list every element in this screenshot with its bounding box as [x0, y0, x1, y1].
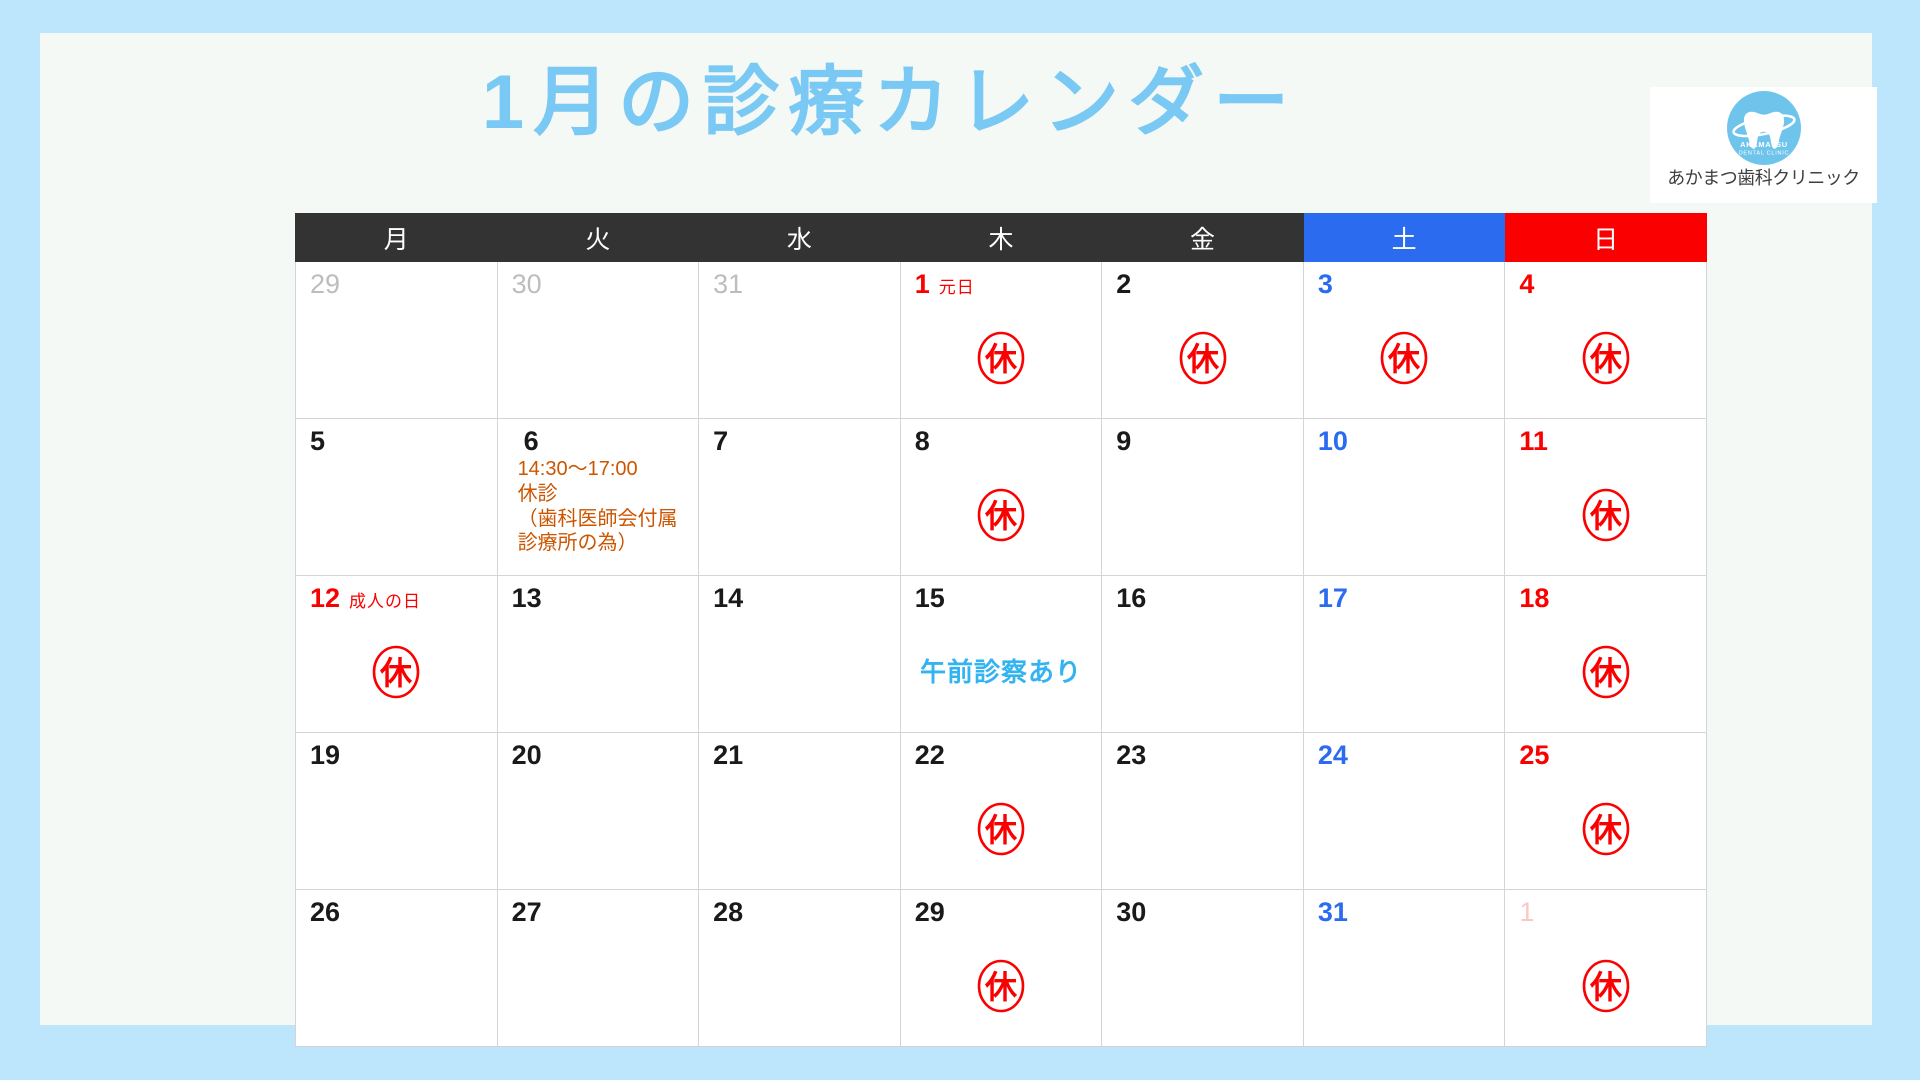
day-cell-16[interactable]: 16 — [1102, 576, 1304, 733]
day-note-orange: 14:30〜17:00 休診 （歯科医師会付属 診療所の為） — [498, 455, 699, 556]
day-number-line: 9 — [1102, 419, 1303, 455]
day-cell-4[interactable]: 4休 — [1505, 262, 1707, 419]
day-number-line: 29 — [901, 890, 1102, 926]
day-cell-10[interactable]: 10 — [1303, 419, 1505, 576]
holiday-label: 成人の日 — [349, 593, 421, 610]
closed-stamp-icon: 休 — [976, 958, 1026, 1014]
day-number: 19 — [310, 742, 340, 769]
day-cell-29[interactable]: 29 — [296, 262, 498, 419]
day-number-line: 21 — [699, 733, 900, 769]
day-number: 11 — [1519, 428, 1548, 455]
day-number-line: 30 — [1102, 890, 1303, 926]
day-cell-22[interactable]: 22休 — [900, 733, 1102, 890]
weekday-header-火: 火 — [497, 214, 699, 262]
day-number: 1 — [1519, 899, 1534, 926]
day-number-line: 3 — [1304, 262, 1505, 298]
day-cell-21[interactable]: 21 — [699, 733, 901, 890]
day-cell-5[interactable]: 5 — [296, 419, 498, 576]
day-cell-23[interactable]: 23 — [1102, 733, 1304, 890]
closed-stamp-icon: 休 — [1379, 330, 1429, 386]
day-number: 4 — [1519, 271, 1534, 298]
day-number-line: 12成人の日 — [296, 576, 497, 612]
svg-text:休: 休 — [1589, 968, 1623, 1006]
day-cell-8[interactable]: 8休 — [900, 419, 1102, 576]
day-number: 22 — [915, 742, 945, 769]
calendar-header: 月火水木金土日 — [296, 214, 1707, 262]
day-number: 12 — [310, 585, 340, 612]
closed-stamp-icon: 休 — [1581, 801, 1631, 857]
day-cell-1[interactable]: 1元日休 — [900, 262, 1102, 419]
day-number-line: 25 — [1505, 733, 1706, 769]
day-cell-30[interactable]: 30 — [497, 262, 699, 419]
closed-stamp-icon: 休 — [1581, 330, 1631, 386]
svg-text:休: 休 — [984, 811, 1018, 849]
day-number-line: 10 — [1304, 419, 1505, 455]
day-cell-25[interactable]: 25休 — [1505, 733, 1707, 890]
day-cell-17[interactable]: 17 — [1303, 576, 1505, 733]
day-number-line: 14 — [699, 576, 900, 612]
day-number: 30 — [512, 271, 542, 298]
closed-stamp-icon: 休 — [1178, 330, 1228, 386]
day-number-line: 19 — [296, 733, 497, 769]
day-cell-18[interactable]: 18休 — [1505, 576, 1707, 733]
svg-text:休: 休 — [1186, 340, 1220, 378]
weekday-header-月: 月 — [296, 214, 498, 262]
day-number-line: 4 — [1505, 262, 1706, 298]
day-number: 24 — [1318, 742, 1348, 769]
calendar-week-row: 5614:30〜17:00 休診 （歯科医師会付属 診療所の為）78休91011… — [296, 419, 1707, 576]
calendar-week-row: 2930311元日休2休3休4休 — [296, 262, 1707, 419]
svg-text:休: 休 — [984, 340, 1018, 378]
day-number: 25 — [1519, 742, 1549, 769]
day-cell-29[interactable]: 29休 — [900, 890, 1102, 1047]
svg-text:休: 休 — [1589, 340, 1623, 378]
day-number: 1 — [915, 271, 930, 298]
day-number: 7 — [713, 428, 728, 455]
day-number-line: 11 — [1505, 419, 1706, 455]
day-number: 10 — [1318, 428, 1348, 455]
closed-stamp-icon: 休 — [371, 644, 421, 700]
day-number: 9 — [1116, 428, 1131, 455]
day-cell-1[interactable]: 1休 — [1505, 890, 1707, 1047]
day-number: 23 — [1116, 742, 1146, 769]
day-number: 17 — [1318, 585, 1348, 612]
day-number-line: 7 — [699, 419, 900, 455]
weekday-header-水: 水 — [699, 214, 901, 262]
day-number-line: 5 — [296, 419, 497, 455]
day-number: 27 — [512, 899, 542, 926]
logo-brand-line-1: AKAMATSU — [1740, 140, 1788, 149]
calendar-week-row: 19202122休232425休 — [296, 733, 1707, 890]
day-number: 31 — [713, 271, 743, 298]
closed-stamp-icon: 休 — [976, 487, 1026, 543]
day-number-line: 26 — [296, 890, 497, 926]
day-cell-26[interactable]: 26 — [296, 890, 498, 1047]
day-number: 5 — [310, 428, 325, 455]
closed-stamp-icon: 休 — [1581, 644, 1631, 700]
weekday-header-日: 日 — [1505, 214, 1707, 262]
holiday-label: 元日 — [939, 279, 975, 296]
svg-text:休: 休 — [1589, 811, 1623, 849]
weekday-header-金: 金 — [1102, 214, 1304, 262]
svg-text:休: 休 — [1589, 497, 1623, 535]
day-number: 18 — [1519, 585, 1549, 612]
day-cell-9[interactable]: 9 — [1102, 419, 1304, 576]
day-number-line: 2 — [1102, 262, 1303, 298]
day-number: 28 — [713, 899, 743, 926]
day-cell-12[interactable]: 12成人の日休 — [296, 576, 498, 733]
day-number-line: 8 — [901, 419, 1102, 455]
calendar-week-row: 12成人の日休131415午前診察あり161718休 — [296, 576, 1707, 733]
day-number-line: 22 — [901, 733, 1102, 769]
day-note-blue: 午前診察あり — [901, 652, 1102, 689]
day-cell-3[interactable]: 3休 — [1303, 262, 1505, 419]
day-number: 31 — [1318, 899, 1348, 926]
day-cell-31[interactable]: 31 — [699, 262, 901, 419]
clinic-logo: AKAMATSU DENTAL CLINIC あかまつ歯科クリニック — [1650, 87, 1877, 203]
day-number: 6 — [524, 428, 539, 455]
day-number-line: 28 — [699, 890, 900, 926]
day-number: 20 — [512, 742, 542, 769]
svg-text:休: 休 — [984, 968, 1018, 1006]
day-number-line: 27 — [498, 890, 699, 926]
day-cell-31[interactable]: 31 — [1303, 890, 1505, 1047]
calendar-week-row: 26272829休30311休 — [296, 890, 1707, 1047]
closed-stamp-icon: 休 — [1581, 487, 1631, 543]
svg-text:休: 休 — [984, 497, 1018, 535]
weekday-header-土: 土 — [1303, 214, 1505, 262]
day-cell-13[interactable]: 13 — [497, 576, 699, 733]
closed-stamp-icon: 休 — [976, 801, 1026, 857]
day-number-line: 6 — [498, 419, 699, 455]
day-cell-30[interactable]: 30 — [1102, 890, 1304, 1047]
tooth-logo-icon: AKAMATSU DENTAL CLINIC — [1727, 91, 1801, 165]
day-number: 15 — [915, 585, 945, 612]
day-cell-19[interactable]: 19 — [296, 733, 498, 890]
day-cell-7[interactable]: 7 — [699, 419, 901, 576]
day-cell-20[interactable]: 20 — [497, 733, 699, 890]
monthly-calendar-table: 月火水木金土日 2930311元日休2休3休4休5614:30〜17:00 休診… — [295, 213, 1707, 1047]
day-number-line: 17 — [1304, 576, 1505, 612]
day-number: 16 — [1116, 585, 1146, 612]
day-number: 29 — [310, 271, 340, 298]
day-cell-24[interactable]: 24 — [1303, 733, 1505, 890]
clinic-name: あかまつ歯科クリニック — [1667, 164, 1860, 190]
day-cell-15[interactable]: 15午前診察あり — [900, 576, 1102, 733]
day-number-line: 23 — [1102, 733, 1303, 769]
day-number-line: 24 — [1304, 733, 1505, 769]
day-number-line: 31 — [1304, 890, 1505, 926]
day-cell-6[interactable]: 614:30〜17:00 休診 （歯科医師会付属 診療所の為） — [497, 419, 699, 576]
day-number-line: 20 — [498, 733, 699, 769]
page-title-row: 1月の診療カレンダー — [40, 59, 1740, 146]
day-number: 30 — [1116, 899, 1146, 926]
day-number-line: 30 — [498, 262, 699, 298]
closed-stamp-icon: 休 — [1581, 958, 1631, 1014]
day-number: 8 — [915, 428, 930, 455]
day-number: 29 — [915, 899, 945, 926]
day-number-line: 13 — [498, 576, 699, 612]
day-cell-14[interactable]: 14 — [699, 576, 901, 733]
day-number-line: 29 — [296, 262, 497, 298]
logo-brand-line-2: DENTAL CLINIC — [1738, 151, 1789, 157]
calendar-card: 1月の診療カレンダー AKAMATSU DENTAL CLINIC あかまつ歯科… — [40, 33, 1872, 1025]
day-cell-28[interactable]: 28 — [699, 890, 901, 1047]
svg-text:休: 休 — [1387, 340, 1421, 378]
day-cell-27[interactable]: 27 — [497, 890, 699, 1047]
day-number-line: 16 — [1102, 576, 1303, 612]
day-number-line: 15 — [901, 576, 1102, 612]
day-number: 26 — [310, 899, 340, 926]
day-cell-2[interactable]: 2休 — [1102, 262, 1304, 419]
day-number: 3 — [1318, 271, 1333, 298]
day-cell-11[interactable]: 11休 — [1505, 419, 1707, 576]
day-number-line: 18 — [1505, 576, 1706, 612]
day-number-line: 1元日 — [901, 262, 1102, 298]
svg-text:休: 休 — [1589, 654, 1623, 692]
day-number: 21 — [713, 742, 743, 769]
weekday-header-row: 月火水木金土日 — [296, 214, 1707, 262]
closed-stamp-icon: 休 — [976, 330, 1026, 386]
day-number: 2 — [1116, 271, 1131, 298]
calendar-page: 1月の診療カレンダー AKAMATSU DENTAL CLINIC あかまつ歯科… — [0, 0, 1920, 1080]
weekday-header-木: 木 — [900, 214, 1102, 262]
day-number-line: 1 — [1505, 890, 1706, 926]
calendar-body: 2930311元日休2休3休4休5614:30〜17:00 休診 （歯科医師会付… — [296, 262, 1707, 1047]
day-number: 14 — [713, 585, 743, 612]
day-number-line: 31 — [699, 262, 900, 298]
page-title: 1月の診療カレンダー — [40, 59, 1740, 146]
svg-text:休: 休 — [379, 654, 413, 692]
day-number: 13 — [512, 585, 542, 612]
